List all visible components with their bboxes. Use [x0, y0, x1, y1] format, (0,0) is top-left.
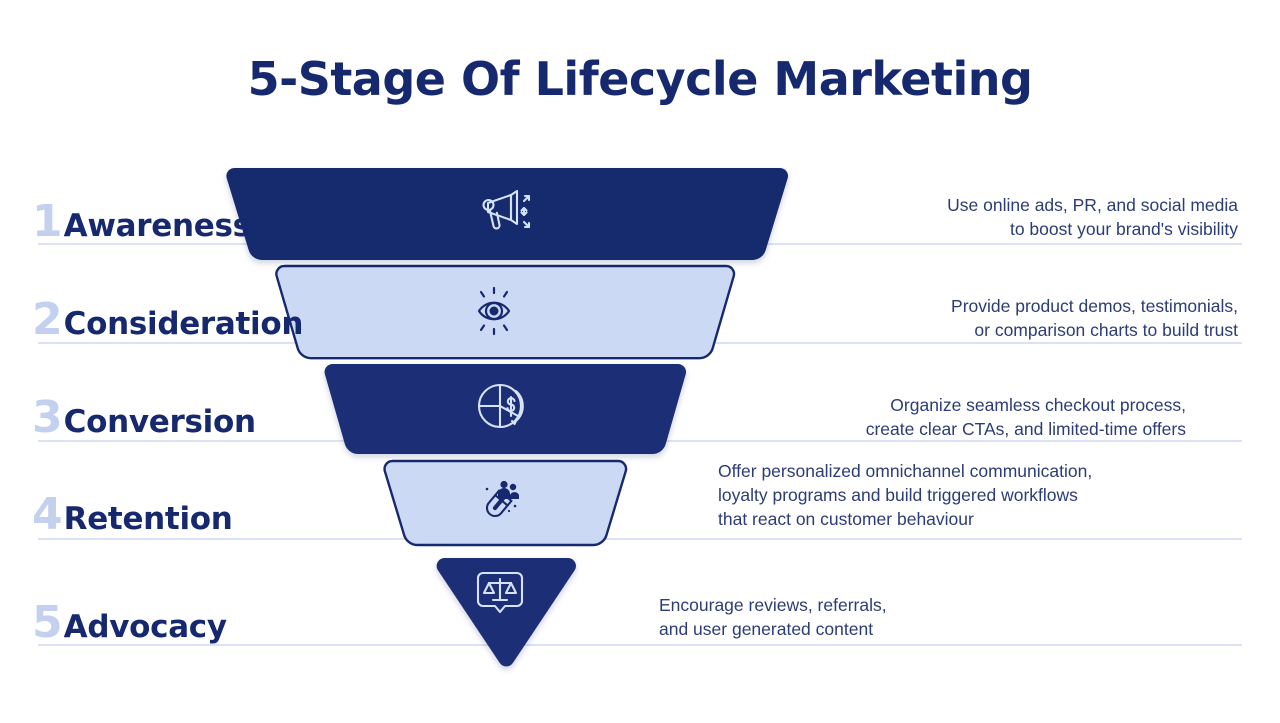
stage-label-4[interactable]: 4 Retention: [32, 493, 233, 537]
infographic-canvas: 5-Stage Of Lifecycle Marketing: [0, 0, 1280, 723]
stage-description-2: Provide product demos, testimonials, or …: [951, 294, 1238, 342]
stage-number-3: 3: [32, 396, 63, 440]
stage-description-4: Offer personalized omnichannel communica…: [718, 459, 1218, 531]
stage-name-1: Awareness: [64, 211, 251, 242]
funnel-segment-retention[interactable]: [385, 461, 626, 545]
stage-number-4: 4: [32, 493, 63, 537]
stage-number-2: 2: [32, 298, 63, 342]
stage-name-5: Advocacy: [64, 612, 227, 643]
funnel-segment-conversion[interactable]: [325, 364, 686, 454]
stage-label-3[interactable]: 3 Conversion: [32, 396, 256, 440]
stage-name-4: Retention: [64, 504, 233, 535]
stage-description-5: Encourage reviews, referrals, and user g…: [659, 593, 1059, 641]
stage-label-2[interactable]: 2 Consideration: [32, 298, 303, 342]
stage-number-5: 5: [32, 601, 63, 645]
stage-number-1: 1: [32, 200, 63, 244]
funnel-segment-consideration[interactable]: [276, 266, 734, 358]
stage-description-3: Organize seamless checkout process, crea…: [866, 393, 1186, 441]
separator-line-4: [38, 538, 1242, 540]
stage-label-5[interactable]: 5 Advocacy: [32, 601, 227, 645]
stage-description-1: Use online ads, PR, and social media to …: [947, 193, 1238, 241]
stage-name-3: Conversion: [64, 407, 256, 438]
stage-label-1[interactable]: 1 Awareness: [32, 200, 251, 244]
funnel-segment-awareness[interactable]: [226, 168, 788, 260]
page-title: 5-Stage Of Lifecycle Marketing: [0, 52, 1280, 106]
stage-name-2: Consideration: [64, 309, 304, 340]
funnel-segment-advocacy[interactable]: [432, 558, 576, 666]
